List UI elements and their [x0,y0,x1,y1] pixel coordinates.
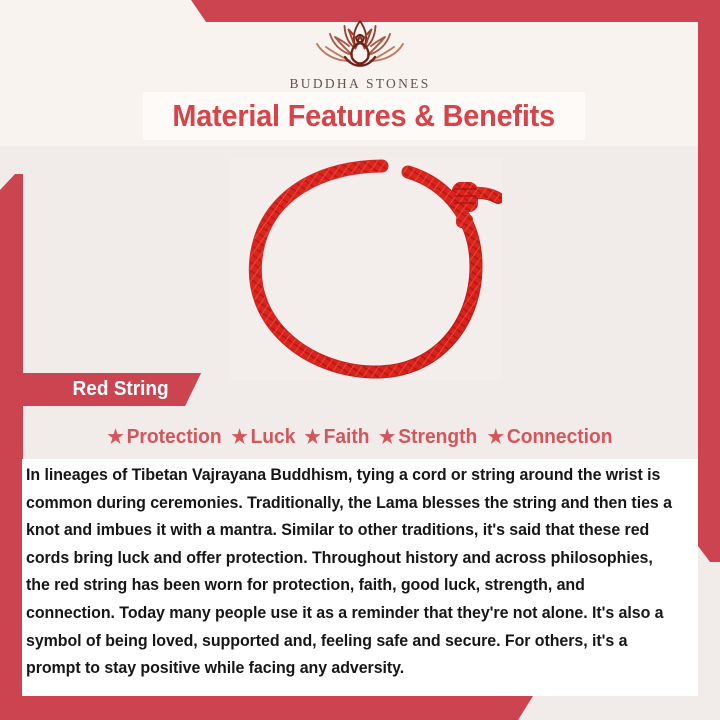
benefit-keyword-label: Protection [127,426,222,449]
benefit-keyword: ★ Protection [107,426,221,449]
benefit-keyword: ★ Connection [487,426,612,449]
decorative-left-red-bar [0,174,23,720]
benefit-keyword: ★ Luck [231,426,295,449]
star-icon: ★ [487,428,503,447]
ribbon-label: Red String [73,378,169,401]
benefit-keyword: ★ Faith [304,426,369,449]
star-icon: ★ [304,428,320,447]
star-icon: ★ [107,428,123,447]
headline-banner: Material Features & Benefits [143,92,585,140]
description-card: In lineages of Tibetan Vajrayana Buddhis… [22,459,698,696]
benefit-keyword-row: ★ Protection ★ Luck ★ Faith ★ Strength ★… [22,419,698,455]
product-photo [230,158,502,380]
star-icon: ★ [379,428,395,447]
brand-logo: BUDDHA STONES [0,14,720,92]
headline-title: Material Features & Benefits [173,98,556,134]
description-paragraph: In lineages of Tibetan Vajrayana Buddhis… [26,462,674,683]
benefit-keyword-label: Connection [507,426,613,449]
benefit-keyword: ★ Strength [379,426,477,449]
infographic-page: BUDDHA STONES Material Features & Benefi… [0,0,720,720]
brand-name: BUDDHA STONES [0,76,720,92]
lotus-meditation-icon [304,14,416,74]
benefit-keyword-label: Luck [251,426,296,449]
red-string-bracelet-illustration [230,158,502,380]
star-icon: ★ [231,428,247,447]
benefit-keyword-label: Faith [323,426,369,449]
benefit-keyword-label: Strength [398,426,477,449]
section-ribbon: Red String [22,373,201,406]
